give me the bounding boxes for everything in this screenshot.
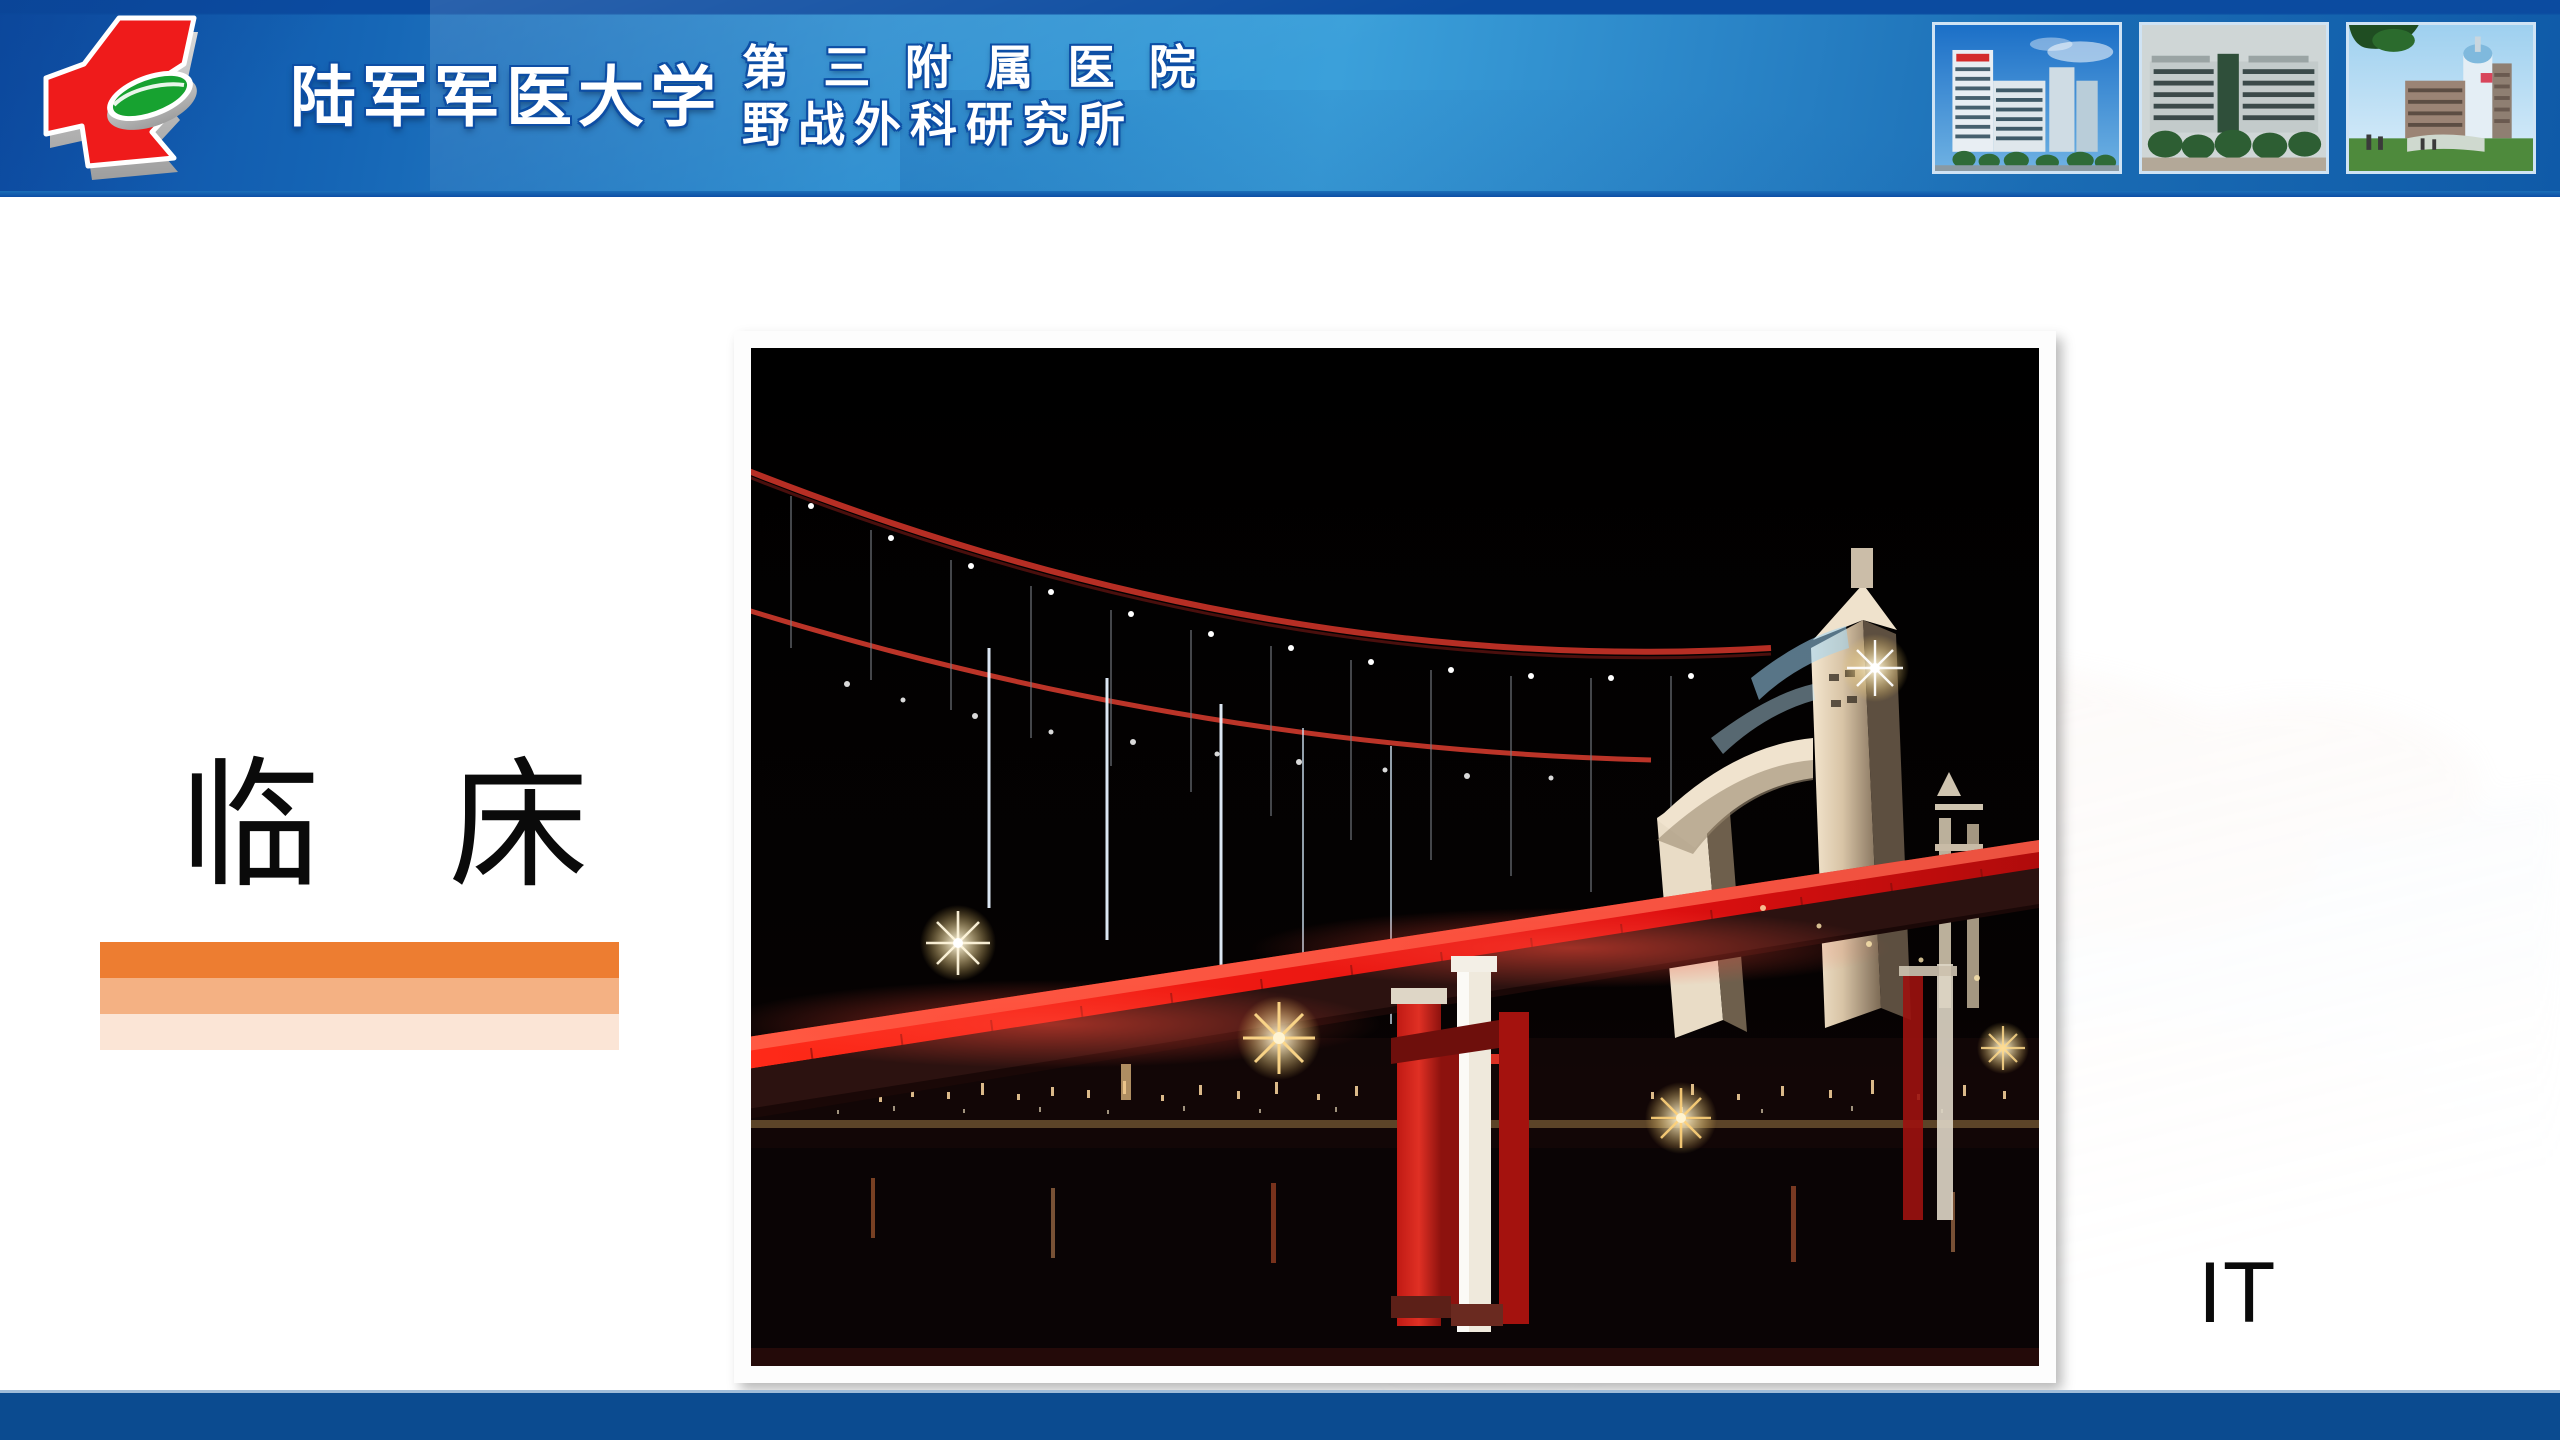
accent-bar-tertiary: [100, 1014, 619, 1050]
night-bridge-photo-frame: [734, 331, 2056, 1383]
accent-bar-group: [100, 942, 619, 1050]
slide-canvas: 陆军军医大学 第 三 附 属 医 院 野战外科研究所: [0, 0, 2560, 1440]
hospital-photo-2: [2139, 22, 2329, 174]
slide-body: 临 床: [0, 197, 2560, 1390]
header-title-block: 陆军军医大学 第 三 附 属 医 院 野战外科研究所: [290, 12, 1205, 184]
header-hospital-name: 第 三 附 属 医 院: [742, 44, 1205, 95]
header-university-name: 陆军军医大学: [290, 65, 722, 131]
accent-bar-primary: [100, 942, 619, 978]
red-cross-leaf-logo-icon: [24, 6, 224, 191]
hospital-photo-1: [1932, 22, 2122, 174]
header-institute-name: 野战外科研究所: [742, 101, 1205, 152]
header-subtitle-stack: 第 三 附 属 医 院 野战外科研究所: [742, 44, 1205, 152]
page-title: 临 床: [180, 757, 631, 897]
footer-bar: [0, 1390, 2560, 1440]
hospital-photo-3: [2346, 22, 2536, 174]
accent-bar-secondary: [100, 978, 619, 1014]
header-banner: 陆军军医大学 第 三 附 属 医 院 野战外科研究所: [0, 0, 2560, 197]
it-label: IT: [2198, 1250, 2276, 1336]
night-bridge-photo: [751, 348, 2039, 1366]
header-photo-strip: [1932, 22, 2536, 174]
